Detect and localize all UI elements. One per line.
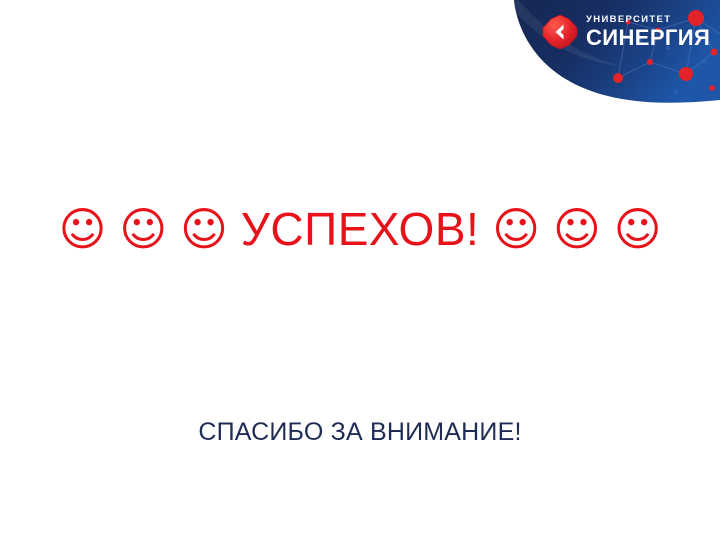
smiley-icon-left-2: ☺ — [119, 202, 167, 256]
brand-wordmark: УНИВЕРСИТЕТ СИНЕРГИЯ — [586, 15, 710, 49]
headline-text: УСПЕХОВ! — [241, 203, 480, 255]
smiley-icon-right-3: ☺ — [614, 202, 662, 256]
network-lines — [618, 18, 720, 78]
headline-success: ☺ ☺ ☺ УСПЕХОВ! ☺ ☺ ☺ — [0, 205, 720, 253]
smiley-icon-right-1: ☺ — [492, 202, 540, 256]
brand-line-university: УНИВЕРСИТЕТ — [586, 15, 710, 25]
banner-swoosh — [502, 0, 620, 66]
banner-fill — [500, 0, 720, 108]
brand-banner-shape — [500, 0, 720, 108]
smiley-icon-right-2: ☺ — [553, 202, 601, 256]
network-nodes-secondary — [638, 38, 706, 94]
chevron-left-icon — [542, 14, 578, 50]
synergy-badge — [542, 14, 578, 50]
brand-banner: УНИВЕРСИТЕТ СИНЕРГИЯ — [500, 0, 720, 108]
brand-line-synergy: СИНЕРГИЯ — [586, 27, 710, 49]
network-nodes — [613, 10, 718, 91]
brand-lockup: УНИВЕРСИТЕТ СИНЕРГИЯ — [542, 14, 710, 50]
thank-you-text: СПАСИБО ЗА ВНИМАНИЕ! — [0, 418, 720, 447]
presentation-slide: УНИВЕРСИТЕТ СИНЕРГИЯ ☺ ☺ ☺ УСПЕХОВ! ☺ ☺ … — [0, 0, 720, 540]
smiley-icon-left-1: ☺ — [58, 202, 106, 256]
smiley-icon-left-3: ☺ — [180, 202, 228, 256]
